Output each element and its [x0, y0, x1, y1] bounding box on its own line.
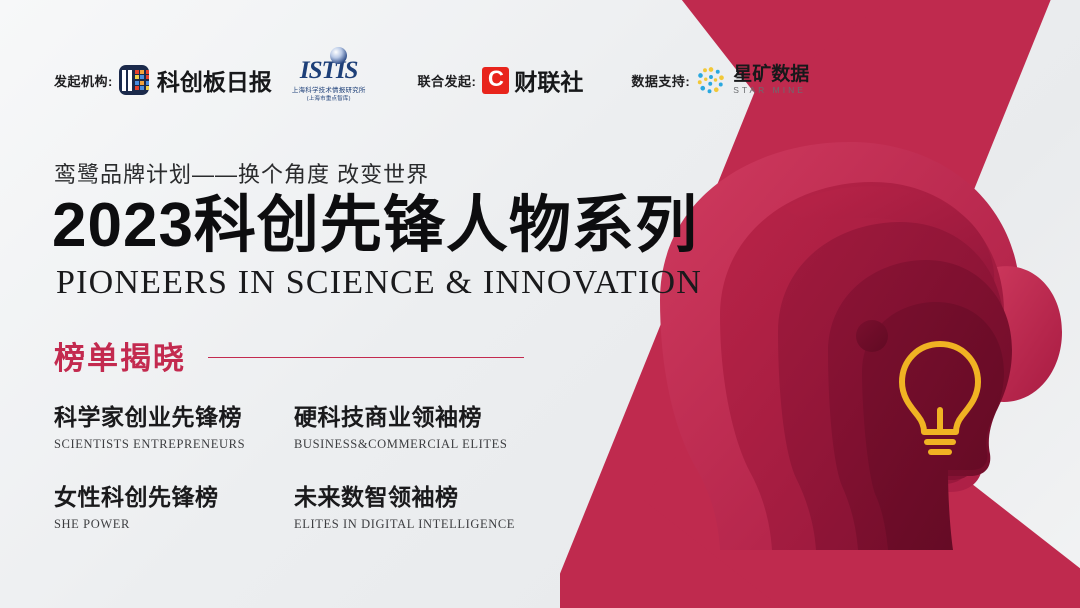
data-support-group: 数据支持:	[631, 65, 809, 95]
data-support-name-cn: 星矿数据	[733, 64, 809, 85]
reveal-heading: 榜单揭晓	[54, 333, 186, 378]
initiator-name: 科创板日报	[157, 63, 272, 97]
data-support-label: 数据支持:	[631, 71, 690, 90]
co-initiator-group: 联合发起: C 财联社	[418, 63, 584, 97]
star-mine-wordmark: 星矿数据 STAR MINE	[733, 65, 809, 95]
category-name-en: ELITES IN DIGITAL INTELLIGENCE	[294, 517, 534, 532]
category-list: 科学家创业先锋榜 SCIENTISTS ENTREPRENEURS 硬科技商业领…	[54, 398, 534, 558]
istis-subtitle-cn-2: (上海市重点智库)	[292, 94, 366, 102]
kechuangban-daily-logo-icon	[119, 65, 149, 95]
sponsor-logo-strip: 发起机构: 科创板日报 ISTIS 上海科学技术情报研究所 (上海市重点智库) …	[54, 58, 809, 102]
paper-cut-heads-graphic	[600, 120, 1070, 550]
hero-kicker: 鸾鹭品牌计划——换个角度 改变世界	[54, 157, 429, 189]
initiator-group: 发起机构: 科创板日报	[54, 63, 272, 97]
category-name-en: BUSINESS&COMMERCIAL ELITES	[294, 437, 534, 452]
category-name-cn: 女性科创先锋榜	[54, 478, 294, 512]
co-initiator-label: 联合发起:	[418, 71, 477, 90]
istis-acronym: ISTIS	[292, 58, 366, 83]
category-name-cn: 未来数智领袖榜	[294, 478, 534, 512]
category-name-en: SHE POWER	[54, 517, 294, 532]
star-mine-dots-logo-icon	[696, 65, 726, 95]
category-item-business-commercial-elites[interactable]: 硬科技商业领袖榜 BUSINESS&COMMERCIAL ELITES	[294, 398, 534, 452]
data-support-name-en: STAR MINE	[733, 86, 809, 95]
initiator-label: 发起机构:	[54, 71, 113, 90]
cailianshe-logo-icon: C	[482, 67, 509, 94]
poster: 发起机构: 科创板日报 ISTIS 上海科学技术情报研究所 (上海市重点智库) …	[0, 0, 1080, 608]
category-item-scientists-entrepreneurs[interactable]: 科学家创业先锋榜 SCIENTISTS ENTREPRENEURS	[54, 398, 294, 452]
category-name-en: SCIENTISTS ENTREPRENEURS	[54, 437, 294, 452]
category-item-digital-intelligence-elites[interactable]: 未来数智领袖榜 ELITES IN DIGITAL INTELLIGENCE	[294, 478, 534, 532]
co-initiator-name: 财联社	[514, 63, 583, 97]
category-row: 女性科创先锋榜 SHE POWER 未来数智领袖榜 ELITES IN DIGI…	[54, 478, 534, 532]
page-title: 2023科创先锋人物系列	[52, 193, 698, 258]
istis-subtitle-cn: 上海科学技术情报研究所	[292, 84, 366, 94]
category-item-she-power[interactable]: 女性科创先锋榜 SHE POWER	[54, 478, 294, 532]
reveal-divider	[208, 357, 524, 359]
category-name-cn: 硬科技商业领袖榜	[294, 398, 534, 432]
category-name-cn: 科学家创业先锋榜	[54, 398, 294, 432]
reveal-heading-row: 榜单揭晓	[54, 333, 524, 378]
cailianshe-logo-letter: C	[488, 68, 504, 90]
category-row: 科学家创业先锋榜 SCIENTISTS ENTREPRENEURS 硬科技商业领…	[54, 398, 534, 452]
istis-logo: ISTIS 上海科学技术情报研究所 (上海市重点智库)	[292, 58, 366, 102]
page-title-english: PIONEERS IN SCIENCE & INNOVATION	[56, 264, 702, 302]
